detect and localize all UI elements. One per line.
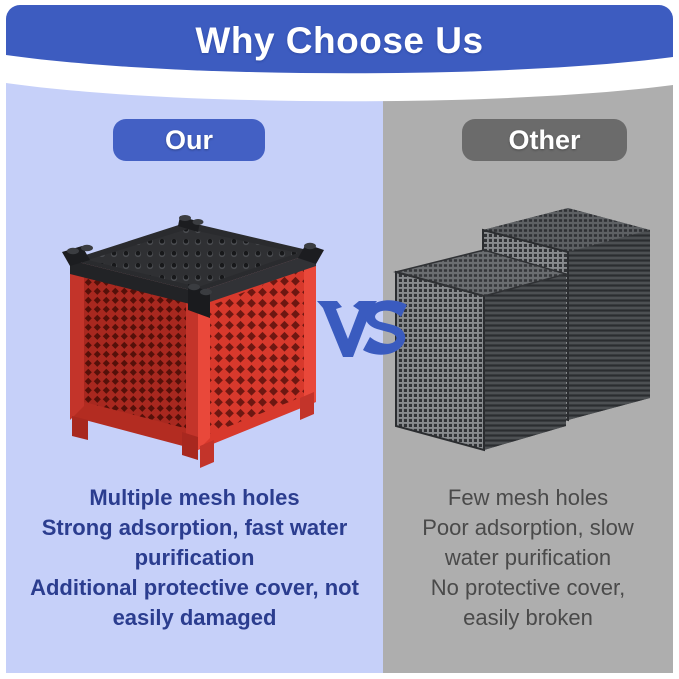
versus-badge: [315, 295, 411, 359]
features-other: Few mesh holes Poor adsorption, slow wat…: [383, 483, 673, 633]
feature-line: Poor adsorption, slow: [397, 513, 659, 543]
feature-line: easily damaged: [20, 603, 369, 633]
feature-line: purification: [20, 543, 369, 573]
panel-our: Our: [6, 83, 383, 673]
why-choose-us-infographic: Why Choose Us Our: [0, 0, 679, 679]
feature-line: Strong adsorption, fast water: [20, 513, 369, 543]
feature-line: Multiple mesh holes: [20, 483, 369, 513]
feature-line: No protective cover,: [397, 573, 659, 603]
product-image-other: [388, 198, 653, 463]
product-image-our: [48, 188, 348, 468]
feature-line: Additional protective cover, not: [20, 573, 369, 603]
features-our: Multiple mesh holes Strong adsorption, f…: [6, 483, 383, 633]
panel-other: Other: [383, 83, 673, 673]
comparison-panels: Our: [6, 83, 673, 673]
feature-line: Few mesh holes: [397, 483, 659, 513]
feature-line: easily broken: [397, 603, 659, 633]
feature-line: water purification: [397, 543, 659, 573]
page-title: Why Choose Us: [6, 19, 673, 63]
badge-other: Other: [462, 119, 627, 161]
badge-our: Our: [113, 119, 265, 161]
header-banner: Why Choose Us: [6, 5, 673, 85]
